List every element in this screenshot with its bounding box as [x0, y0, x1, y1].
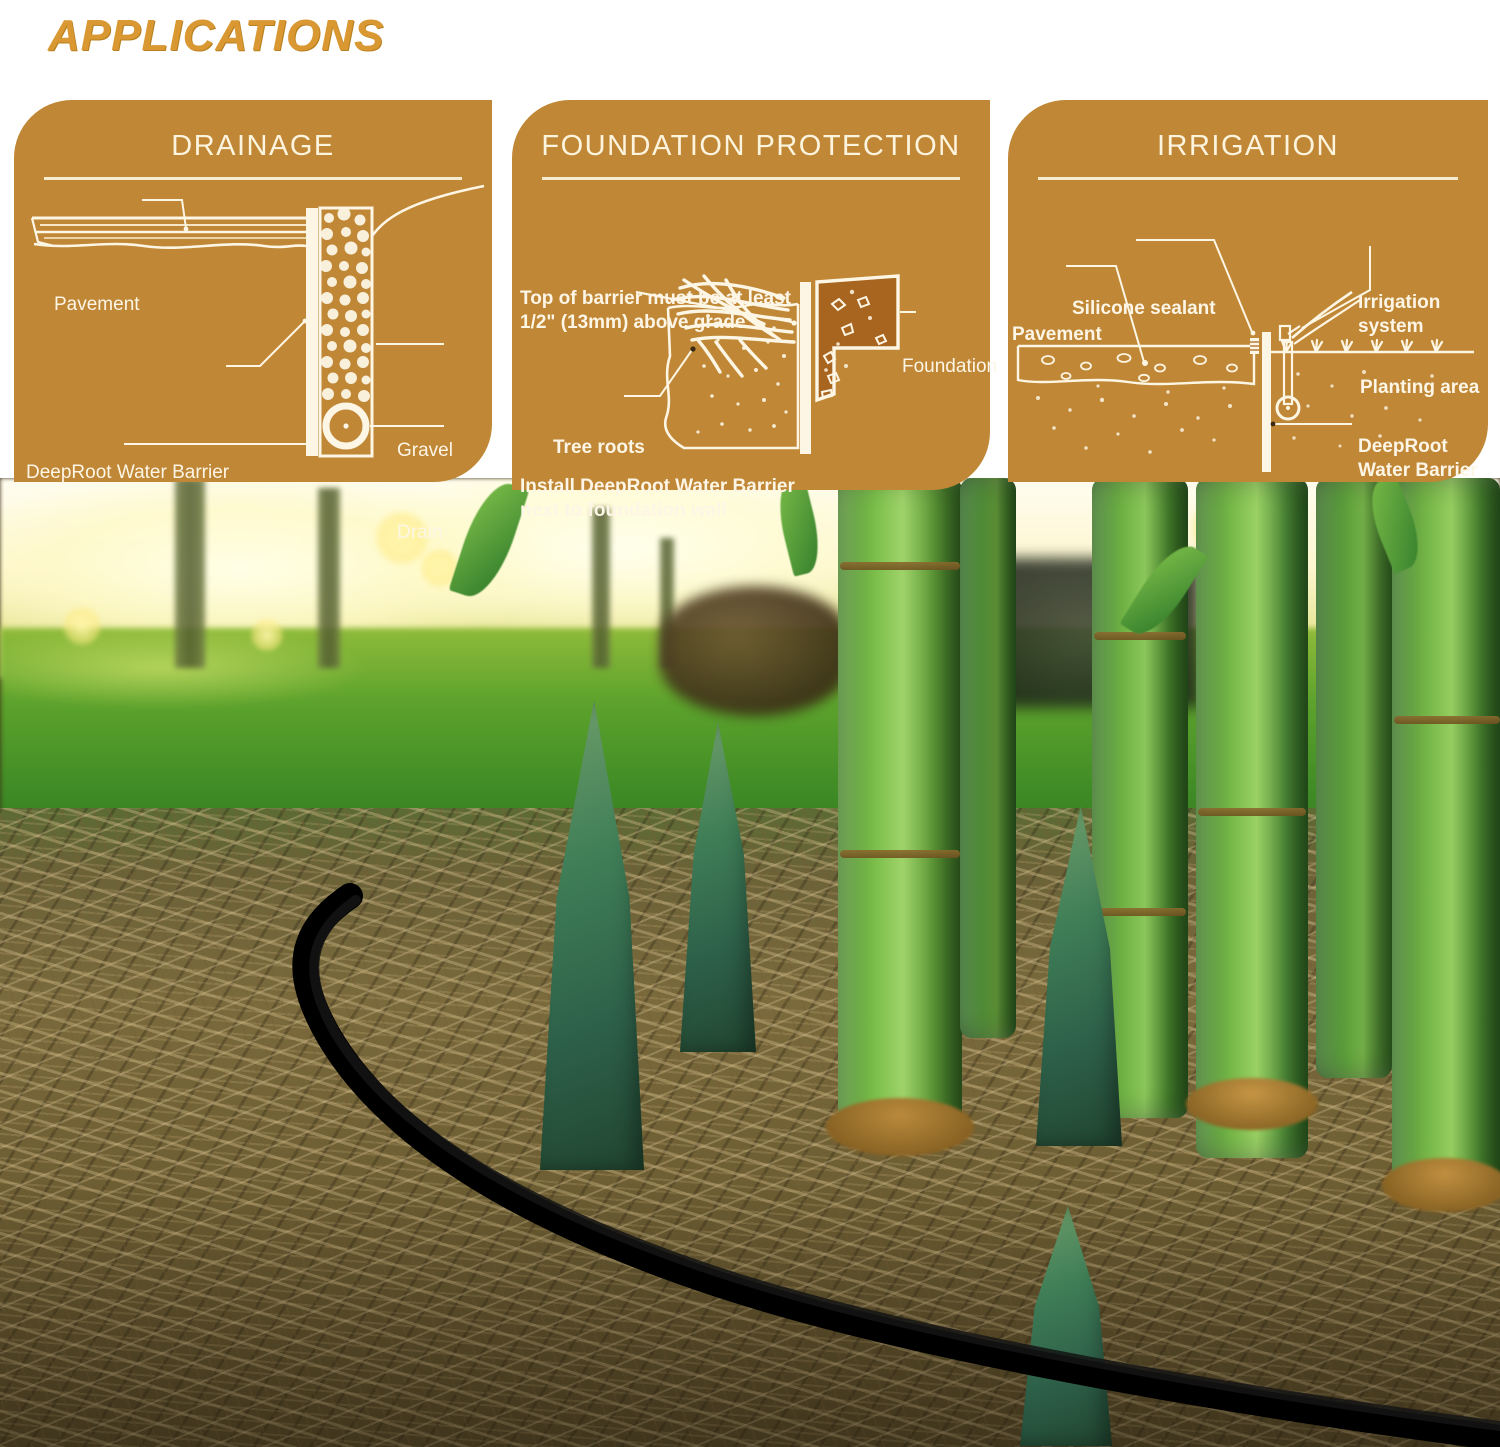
panel-drainage-title: DRAINAGE	[14, 100, 492, 163]
root-barrier-edging	[0, 478, 1500, 1447]
irrigation-label-silicone-sealant: Silicone sealant	[1072, 297, 1216, 321]
panel-drainage: DRAINAGE	[14, 100, 492, 482]
drainage-label-barrier: DeepRoot Water Barrier	[26, 461, 229, 485]
irrigation-label-planting-area: Planting area	[1360, 376, 1479, 400]
foundation-note-top-line2: 1/2" (13mm) above grade	[520, 312, 746, 333]
irrigation-label-pavement: Pavement	[1012, 323, 1102, 347]
irrigation-label-irrigation-system: Irrigation system	[1358, 291, 1488, 339]
foundation-note-install-line1: Install DeepRoot Water Barrier	[520, 476, 795, 497]
foundation-label-tree-roots: Tree roots	[553, 436, 645, 460]
irrigation-label-barrier: DeepRoot Water Barrier	[1358, 435, 1478, 483]
drainage-label-pavement: Pavement	[54, 293, 140, 317]
irrigation-label-barrier-line1: DeepRoot	[1358, 436, 1448, 457]
foundation-note-top: Top of barrier must be at least 1/2" (13…	[520, 287, 820, 335]
drainage-label-gravel: Gravel	[397, 439, 453, 463]
panel-foundation-protection: FOUNDATION PROTECTION	[512, 100, 990, 490]
drainage-label-drain: Drain	[397, 521, 442, 545]
irrigation-label-barrier-line2: Water Barrier	[1358, 460, 1478, 481]
foundation-note-install-line2: next to foundation wall	[520, 500, 727, 521]
foundation-note-install: Install DeepRoot Water Barrier next to f…	[520, 475, 820, 523]
foundation-label-foundation: Foundation	[902, 355, 997, 379]
panel-foundation-title: FOUNDATION PROTECTION	[512, 100, 990, 163]
panel-irrigation: IRRIGATION	[1008, 100, 1488, 482]
drainage-diagram	[14, 180, 492, 470]
foundation-note-top-line1: Top of barrier must be at least	[520, 288, 791, 309]
product-photo	[0, 478, 1500, 1447]
applications-panel-group: DRAINAGE	[0, 0, 1500, 500]
panel-irrigation-title: IRRIGATION	[1008, 100, 1488, 163]
